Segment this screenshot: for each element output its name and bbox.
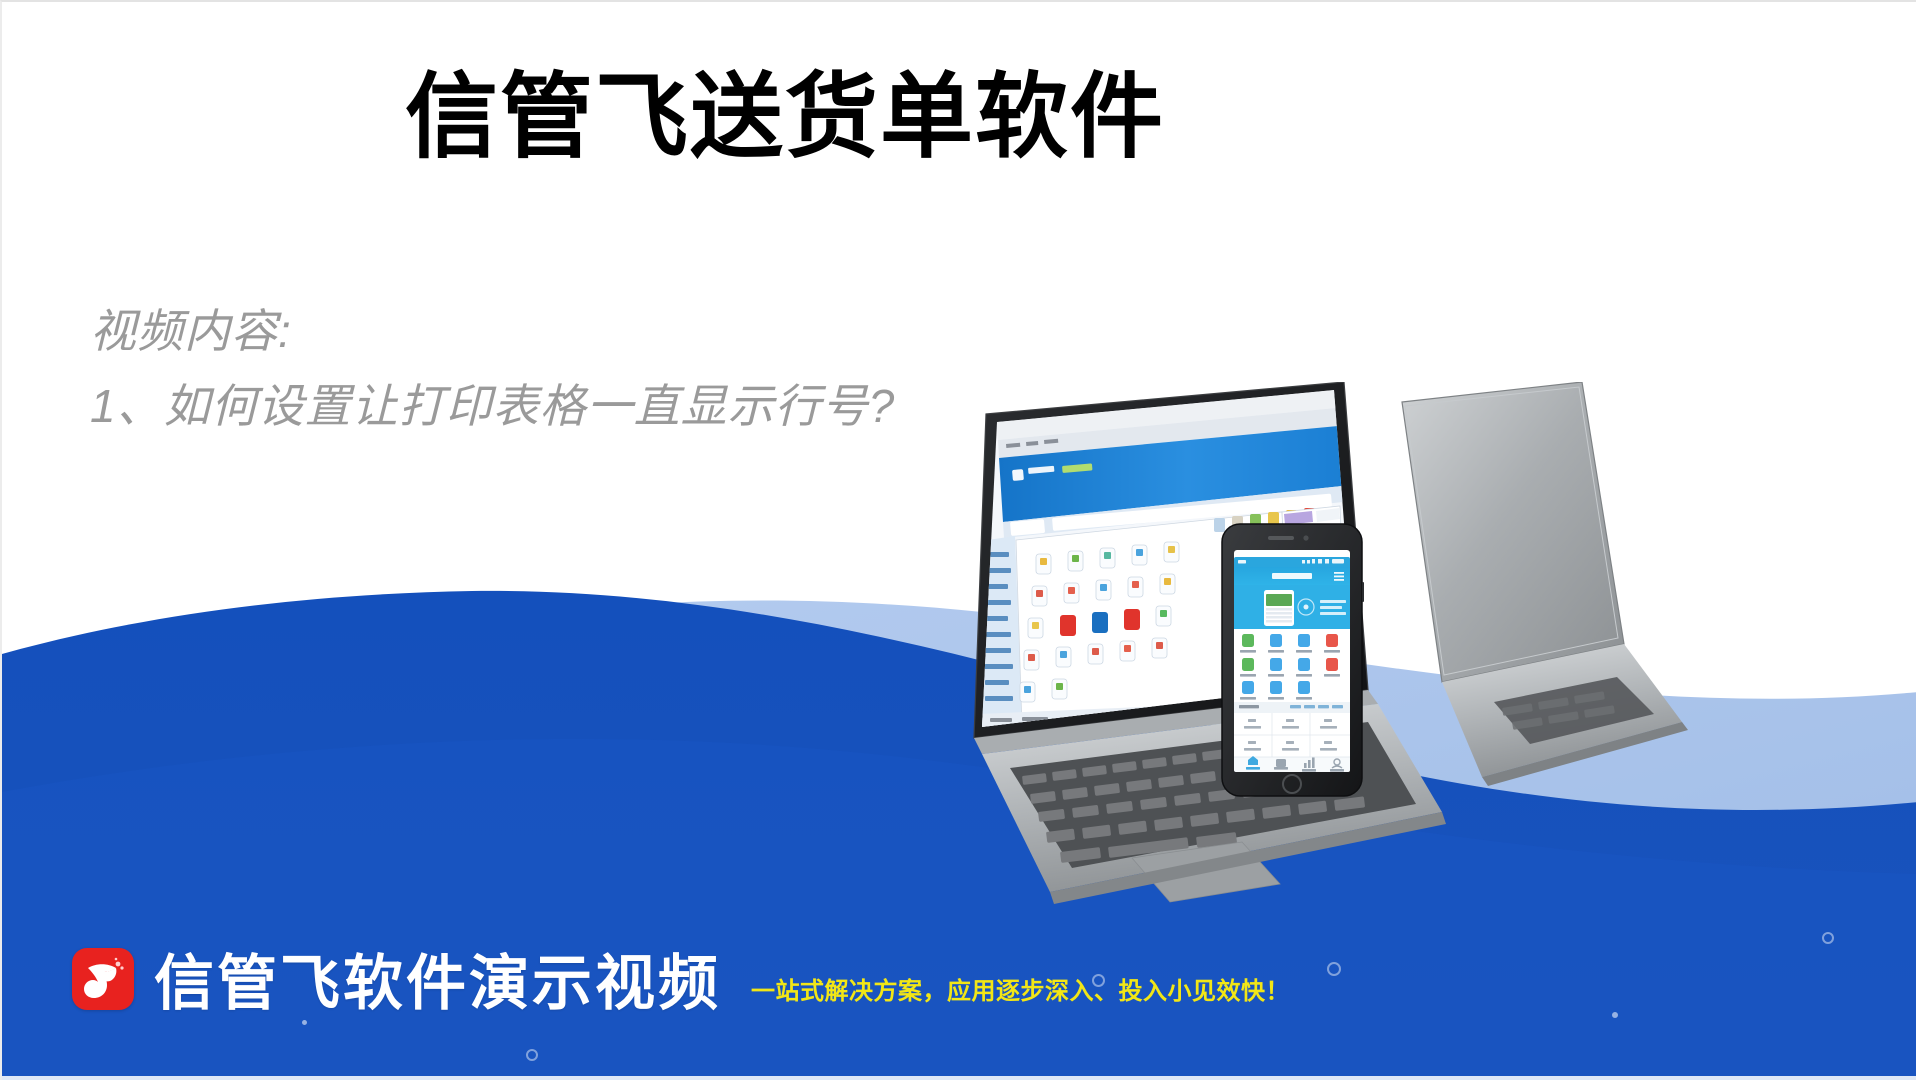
wave-inner-highlight-shape — [2, 739, 1916, 1080]
footer-branding: 信管飞软件演示视频 一站式解决方案，应用逐步深入、投入小见效快！ — [72, 948, 1290, 1014]
body-line-item-1: 1、如何设置让打印表格一直显示行号? — [90, 369, 895, 444]
phone-bottom-nav — [1246, 756, 1344, 772]
flying-bird-logo-icon — [72, 948, 134, 1010]
bottom-accent-strip — [2, 1076, 1916, 1080]
laptop-front-view — [972, 382, 1446, 904]
hamburger-menu-icon — [1334, 572, 1344, 581]
decorative-dot — [1612, 1012, 1618, 1018]
app-toolbar-icons — [1214, 508, 1315, 532]
smartphone — [1222, 524, 1364, 796]
app-right-list-panel — [1282, 506, 1348, 712]
slide-title-text: 信管飞送货单软件 — [405, 64, 1165, 171]
slide-body: 视频内容: 1、如何设置让打印表格一直显示行号? — [90, 294, 895, 443]
decorative-dot — [526, 1049, 538, 1061]
device-mockup-group — [882, 382, 1916, 942]
keyboard-keys — [1022, 733, 1365, 863]
phone-screen — [1234, 557, 1350, 772]
decorative-dot — [1822, 932, 1834, 944]
phone-icon-grid — [1240, 634, 1340, 700]
presentation-slide: 信管飞送货单软件 视频内容: 1、如何设置让打印表格一直显示行号? — [0, 0, 1916, 1080]
laptop-rear-view — [1402, 382, 1688, 786]
laptop-screen — [972, 382, 1372, 742]
brand-tagline: 一站式解决方案，应用逐步深入、投入小见效快！ — [751, 971, 1290, 1006]
app-icon-grid — [1020, 542, 1179, 702]
decorative-dot — [1327, 962, 1341, 976]
decorative-dot — [302, 1020, 307, 1025]
slide-title: 信管飞送货单软件 — [2, 64, 1916, 171]
body-line-label: 视频内容: — [90, 294, 895, 369]
brand-name: 信管飞软件演示视频 — [154, 954, 721, 1014]
